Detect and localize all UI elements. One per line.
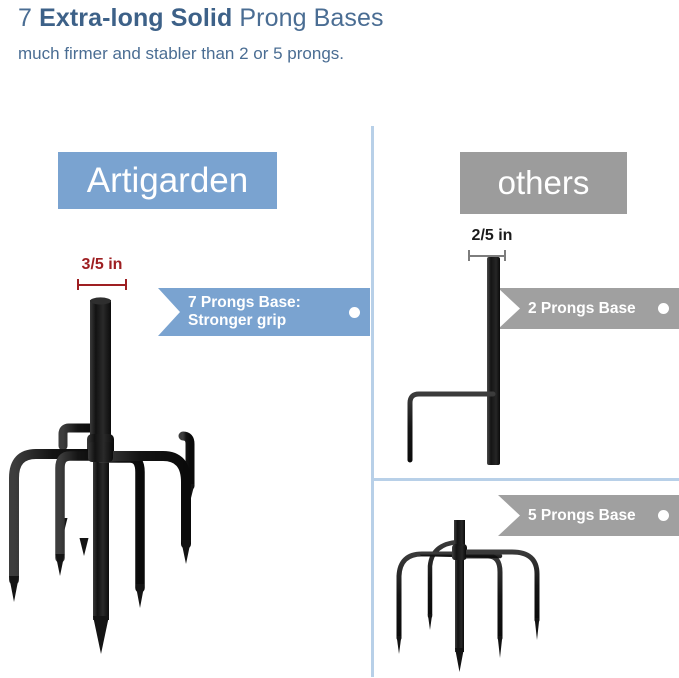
title-segment-strong: Extra-long Solid <box>39 4 232 32</box>
infographic-page: 7 Extra-long Solid Prong Bases much firm… <box>0 0 679 678</box>
product-image-5-prong-stake <box>392 520 582 678</box>
title-segment-2: Prong Bases <box>232 4 383 32</box>
brand-label-artigarden: Artigarden <box>58 152 277 209</box>
page-subtitle: much firmer and stabler than 2 or 5 pron… <box>18 42 344 66</box>
brand-label-others: others <box>460 152 627 214</box>
bullet-dot-icon <box>658 303 669 314</box>
bullet-dot-icon <box>658 510 669 521</box>
page-title: 7 Extra-long Solid Prong Bases <box>18 2 384 34</box>
title-segment-1: 7 <box>18 4 39 32</box>
dimension-callout-3-5-in: 3/5 in <box>62 256 142 290</box>
product-image-2-prong-stake <box>392 252 532 484</box>
bullet-dot-icon <box>349 307 360 318</box>
product-image-7-prong-stake <box>0 286 236 666</box>
divider-vertical <box>371 126 374 677</box>
dimension-label: 2/5 in <box>452 227 532 245</box>
dimension-label: 3/5 in <box>62 256 142 274</box>
